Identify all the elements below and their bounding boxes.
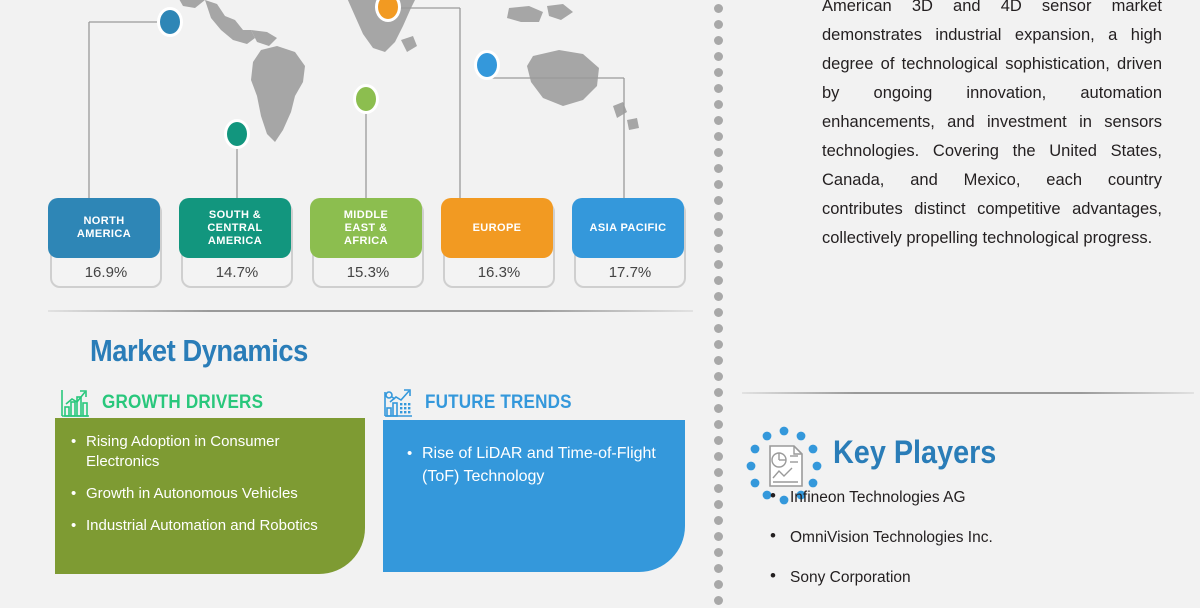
region-label: SOUTH &CENTRALAMERICA [179, 198, 291, 258]
divider-dot [714, 100, 723, 109]
future-trends-label: FUTURE TRENDS [425, 392, 572, 414]
divider-dot [714, 132, 723, 141]
divider-dot [714, 468, 723, 477]
divider-dot [714, 148, 723, 157]
divider-dot [714, 484, 723, 493]
divider-dot [714, 580, 723, 589]
list-item: Rise of LiDAR and Time-of-Flight (ToF) T… [407, 442, 669, 488]
growth-chart-icon [58, 386, 92, 420]
region-cagr-value: 16.9% [50, 258, 162, 287]
divider-dot [714, 596, 723, 605]
divider-dot [714, 388, 723, 397]
divider-dot [714, 564, 723, 573]
pin-dot [353, 84, 379, 114]
left-horizontal-divider [48, 310, 693, 312]
growth-drivers-list: Rising Adoption in Consumer Electronics … [71, 432, 349, 536]
pin-dot [375, 0, 401, 22]
region-label: NORTHAMERICA [48, 198, 160, 258]
region-card-south-central-america[interactable]: SOUTH &CENTRALAMERICA 14.7% [179, 198, 295, 290]
pin-dot [224, 119, 250, 149]
divider-dot [714, 196, 723, 205]
divider-dot [714, 404, 723, 413]
region-card-europe[interactable]: EUROPE 16.3% [441, 198, 557, 290]
growth-drivers-panel: Rising Adoption in Consumer Electronics … [55, 418, 365, 574]
region-label: MIDDLEEAST &AFRICA [310, 198, 422, 258]
future-trends-list: Rise of LiDAR and Time-of-Flight (ToF) T… [407, 442, 669, 488]
region-card-middle-east-africa[interactable]: MIDDLEEAST &AFRICA 15.3% [310, 198, 426, 290]
key-players-list: Infineon Technologies AG OmniVision Tech… [762, 488, 1182, 608]
divider-dot [714, 180, 723, 189]
region-cards: NORTHAMERICA 16.9% SOUTH &CENTRALAMERICA… [48, 198, 694, 290]
region-card-north-america[interactable]: NORTHAMERICA 16.9% [48, 198, 164, 290]
region-cagr-value: 14.7% [181, 258, 293, 287]
divider-dot [714, 68, 723, 77]
list-item: Growth in Autonomous Vehicles [71, 484, 349, 504]
divider-dot [714, 36, 723, 45]
list-item: OmniVision Technologies Inc. [762, 528, 1182, 548]
list-item: Industrial Automation and Robotics [71, 516, 349, 536]
growth-drivers-label: GROWTH DRIVERS [102, 392, 263, 414]
list-item: Rising Adoption in Consumer Electronics [71, 432, 349, 472]
divider-dot [714, 164, 723, 173]
divider-dot [714, 20, 723, 29]
growth-drivers-header: GROWTH DRIVERS [58, 386, 281, 420]
region-card-asia-pacific[interactable]: ASIA PACIFIC 17.7% [572, 198, 688, 290]
divider-dot [714, 548, 723, 557]
region-cagr-value: 16.3% [443, 258, 555, 287]
map-pin-asia-pacific [474, 50, 500, 80]
divider-dot [714, 292, 723, 301]
region-label: ASIA PACIFIC [572, 198, 684, 258]
divider-dot [714, 516, 723, 525]
divider-dot [714, 372, 723, 381]
pin-dot [474, 50, 500, 80]
divider-dot [714, 308, 723, 317]
divider-dot [714, 228, 723, 237]
map-pin-europe [375, 0, 401, 22]
divider-dot [714, 244, 723, 253]
overview-paragraph: American 3D and 4D sensor market demonst… [822, 0, 1162, 253]
divider-dot [714, 4, 723, 13]
divider-dot [714, 260, 723, 269]
divider-dot [714, 420, 723, 429]
divider-dot [714, 356, 723, 365]
region-cagr-value: 15.3% [312, 258, 424, 287]
list-item: Sony Corporation [762, 568, 1182, 588]
future-trends-panel: Rise of LiDAR and Time-of-Flight (ToF) T… [383, 420, 685, 572]
divider-dot [714, 276, 723, 285]
divider-dot [714, 532, 723, 541]
key-players-title: Key Players [833, 434, 996, 471]
divider-dot [714, 436, 723, 445]
future-trends-header: FUTURE TRENDS [381, 386, 588, 420]
pin-dot [157, 7, 183, 37]
region-cagr-value: 17.7% [574, 258, 686, 287]
map-pin-north-america [157, 7, 183, 37]
divider-dot [714, 52, 723, 61]
map-pin-south-central-america [224, 119, 250, 149]
region-label: EUROPE [441, 198, 553, 258]
map-pin-middle-east-africa [353, 84, 379, 114]
divider-dot [714, 452, 723, 461]
divider-dot [714, 340, 723, 349]
divider-dot [714, 84, 723, 93]
divider-dot [714, 500, 723, 509]
trend-chart-icon [381, 386, 415, 420]
right-horizontal-divider [742, 392, 1194, 394]
list-item: Infineon Technologies AG [762, 488, 1182, 508]
divider-dot [714, 212, 723, 221]
vertical-dotted-divider [714, 0, 726, 600]
market-dynamics-title: Market Dynamics [90, 333, 308, 369]
infographic-canvas: NORTHAMERICA 16.9% SOUTH &CENTRALAMERICA… [0, 0, 1200, 600]
divider-dot [714, 116, 723, 125]
divider-dot [714, 324, 723, 333]
